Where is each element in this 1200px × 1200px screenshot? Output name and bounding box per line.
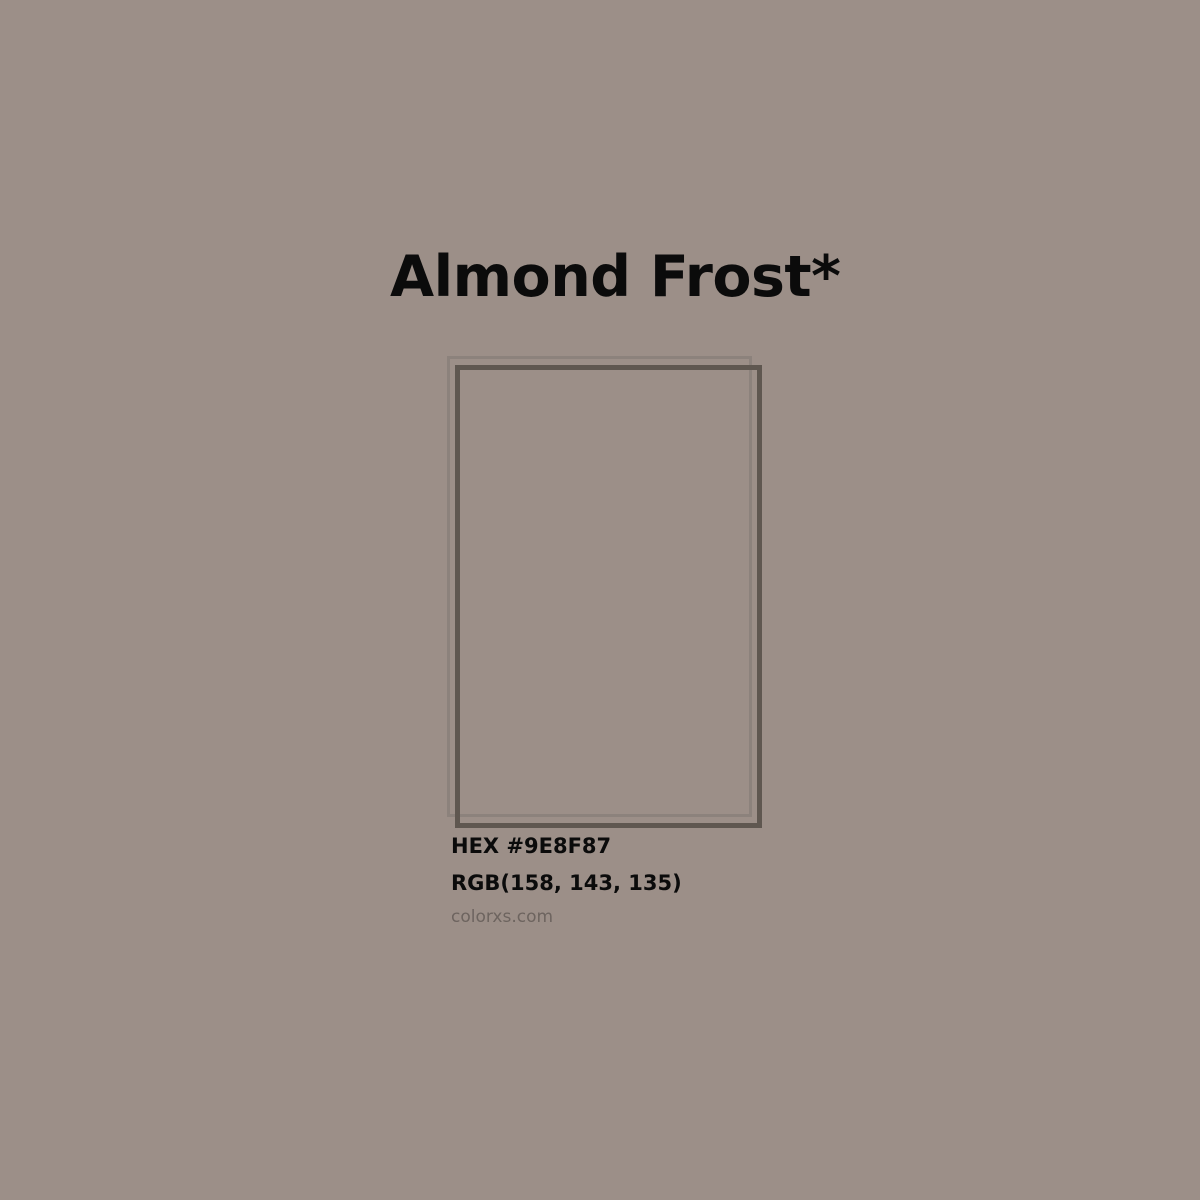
color-swatch bbox=[0, 0, 1200, 1200]
site-credit: colorxs.com bbox=[451, 909, 553, 926]
rgb-value: RGB(158, 143, 135) bbox=[451, 873, 1051, 894]
color-card-page: Almond Frost* HEX #9E8F87 RGB(158, 143, … bbox=[0, 0, 1200, 1200]
hex-value: HEX #9E8F87 bbox=[451, 836, 1051, 857]
page-title: Almond Frost* bbox=[390, 246, 840, 309]
swatch-outline-front bbox=[455, 365, 762, 828]
swatch-outline-back bbox=[447, 356, 752, 817]
color-values: HEX #9E8F87 RGB(158, 143, 135) bbox=[451, 836, 1051, 894]
